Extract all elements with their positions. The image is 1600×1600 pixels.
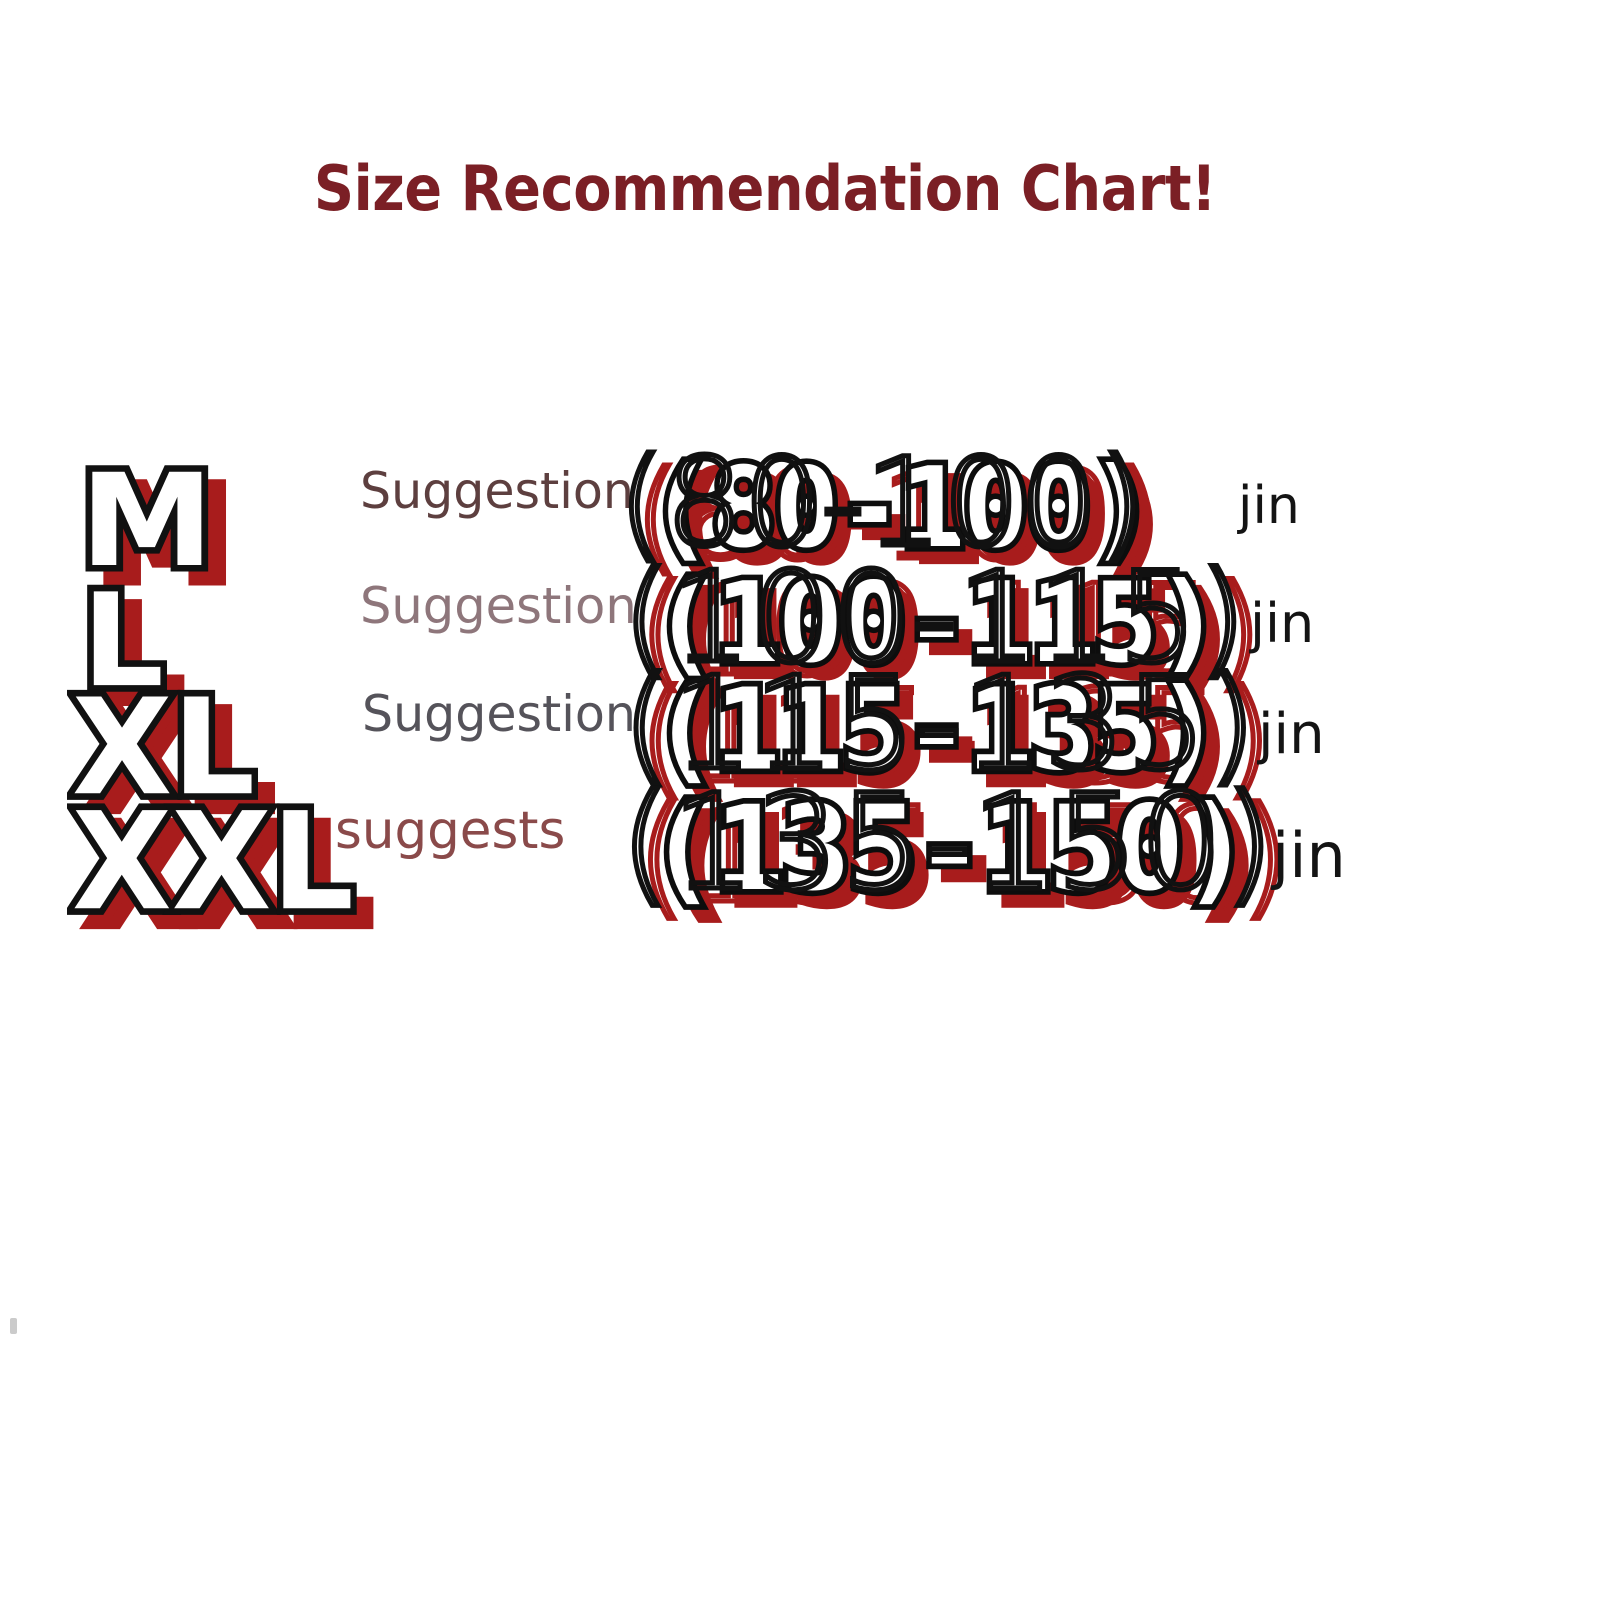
square-bracket-xxl: (135-150) bbox=[620, 777, 1275, 909]
size-chart-page: Size Recommendation Chart! M M M Suggest… bbox=[0, 0, 1600, 1600]
table-row: XXL XXL XXL suggests (135-150) (135-150)… bbox=[0, 775, 1600, 895]
suggestion-label-xl: Suggestion bbox=[362, 689, 636, 739]
page-title: Size Recommendation Chart! bbox=[77, 152, 1454, 225]
unit-label-m: jin bbox=[1238, 480, 1300, 532]
suggestion-label-m: Suggestion bbox=[360, 466, 634, 516]
table-row: XL XL XL Suggestion (115-135) (115-135) … bbox=[0, 663, 1600, 783]
suggestion-label-l: Suggestion bbox=[360, 581, 637, 631]
unit-label-xxl: jin bbox=[1272, 825, 1346, 887]
unit-label-xl: jin bbox=[1258, 707, 1325, 763]
suggestion-label-xxl: suggests bbox=[335, 805, 565, 857]
unit-label-l: jin bbox=[1250, 597, 1314, 651]
size-label-fill: XXL bbox=[72, 795, 354, 930]
image-artifact-speck bbox=[10, 1318, 17, 1334]
table-row: M M M Suggestion (80-100) (80-100) (80-1… bbox=[0, 440, 1600, 560]
